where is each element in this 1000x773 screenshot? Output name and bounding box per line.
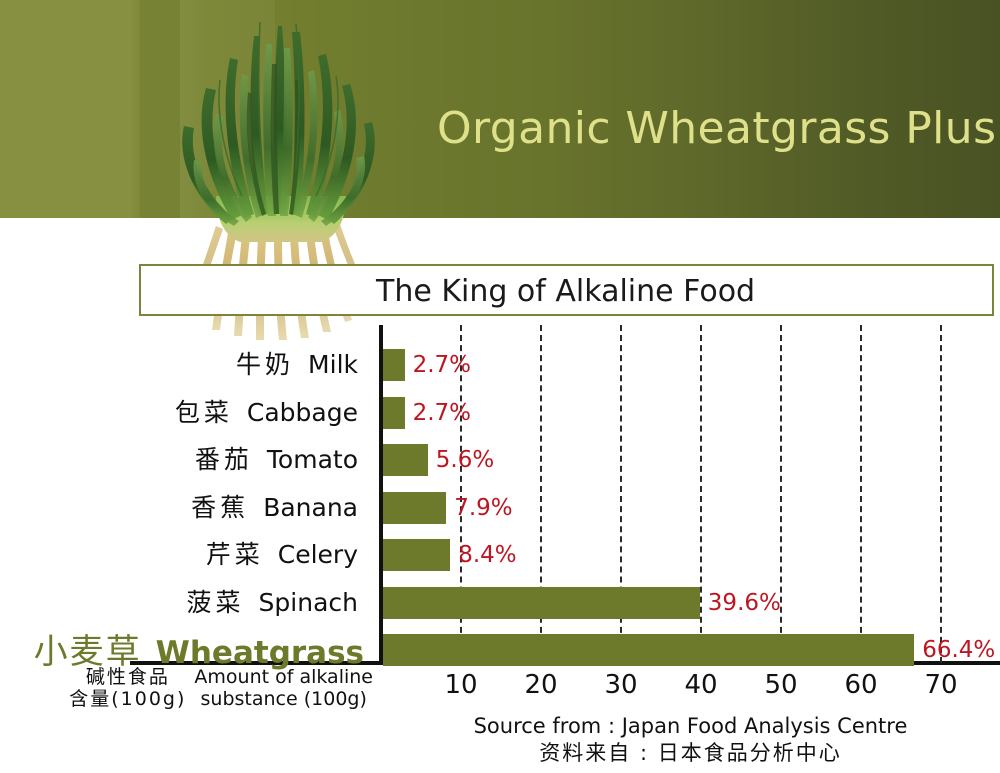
banner-band-right (180, 0, 275, 218)
bar-banana (383, 492, 446, 524)
row-label-en: Cabbage (247, 398, 358, 427)
row-label-cn: 番茄 (195, 445, 253, 474)
value-label-celery: 8.4% (458, 542, 516, 568)
row-label-en: Milk (308, 350, 358, 379)
bar-cabbage (383, 397, 405, 429)
value-label-tomato: 5.6% (436, 447, 494, 473)
bar-milk (383, 349, 405, 381)
x-tick-70: 70 (924, 670, 957, 700)
gridline-40 (700, 325, 702, 663)
row-label-celery: 芹菜Celery (206, 535, 358, 571)
row-label-cn: 香蕉 (191, 493, 249, 522)
gridline-70 (940, 325, 942, 663)
value-label-milk: 2.7% (413, 352, 471, 378)
axis-caption-en: Amount of alkaline substance (100g) (194, 667, 373, 711)
axis-caption: 碱性食品 含量(100g) Amount of alkaline substan… (28, 667, 373, 711)
bar-celery (383, 539, 450, 571)
x-tick-10: 10 (444, 670, 477, 700)
slide-root: Organic Wheatgrass Plus (0, 0, 1000, 773)
row-label-milk: 牛奶Milk (236, 345, 358, 381)
x-tick-20: 20 (524, 670, 557, 700)
bar-wheatgrass (383, 634, 914, 666)
banner-band-left (140, 0, 180, 218)
plot-area: 2.7%2.7%5.6%7.9%8.4%39.6%66.4% (381, 325, 1000, 663)
axis-caption-cn: 碱性食品 含量(100g) (69, 667, 186, 711)
row-label-cn: 菠菜 (187, 588, 245, 617)
value-label-spinach: 39.6% (708, 590, 781, 616)
subtitle-label: The King of Alkaline Food (376, 274, 755, 309)
bar-spinach (383, 587, 700, 619)
x-tick-50: 50 (764, 670, 797, 700)
value-label-cabbage: 2.7% (413, 400, 471, 426)
axis-caption-en-line1: Amount of alkaline (194, 667, 373, 689)
source-cn: 资料来自 : 日本食品分析中心 (381, 739, 1000, 767)
gridline-60 (860, 325, 862, 663)
row-label-en: Banana (263, 493, 358, 522)
x-tick-30: 30 (604, 670, 637, 700)
row-label-cn: 芹菜 (206, 540, 264, 569)
row-label-cabbage: 包菜Cabbage (175, 393, 358, 429)
row-label-cn: 牛奶 (236, 350, 294, 379)
bar-tomato (383, 444, 428, 476)
bar-chart: 2.7%2.7%5.6%7.9%8.4%39.6%66.4% 牛奶Milk包菜C… (0, 325, 1000, 773)
x-tick-40: 40 (684, 670, 717, 700)
axis-caption-cn-line2: 含量(100g) (69, 689, 186, 711)
source-en: Source from : Japan Food Analysis Centre (381, 713, 1000, 739)
row-label-en: Tomato (267, 445, 358, 474)
x-tick-60: 60 (844, 670, 877, 700)
row-label-banana: 香蕉Banana (191, 488, 358, 524)
value-label-banana: 7.9% (454, 495, 512, 521)
row-label-tomato: 番茄Tomato (195, 440, 358, 476)
page-title: Organic Wheatgrass Plus (437, 103, 996, 154)
value-label-wheatgrass: 66.4% (922, 637, 995, 663)
axis-caption-cn-line1: 碱性食品 (69, 667, 186, 689)
row-label-en: Spinach (259, 588, 358, 617)
row-label-en: Celery (278, 540, 358, 569)
row-label-cn: 包菜 (175, 398, 233, 427)
source-attribution: Source from : Japan Food Analysis Centre… (381, 713, 1000, 768)
axis-caption-en-line2: substance (100g) (194, 689, 373, 711)
row-label-spinach: 菠菜Spinach (187, 583, 358, 619)
